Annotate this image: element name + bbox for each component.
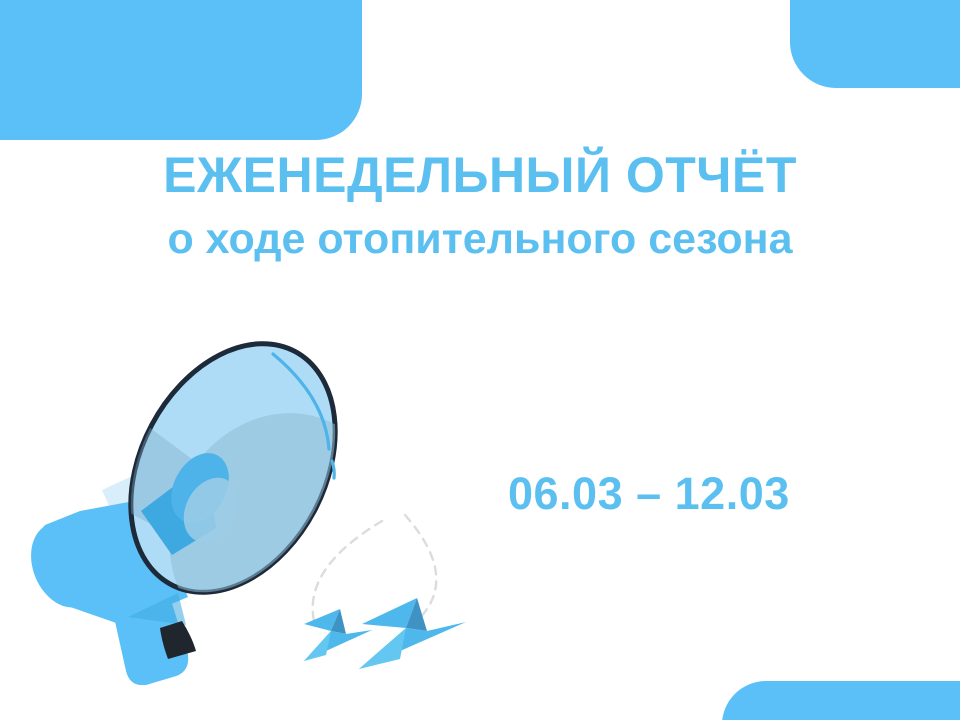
page-title: ЕЖЕНЕДЕЛЬНЫЙ ОТЧЁТ <box>0 150 960 201</box>
megaphone-illustration <box>10 325 490 685</box>
megaphone-icon <box>10 325 490 685</box>
date-range-label: 06.03 – 12.03 <box>508 468 868 520</box>
title-block: ЕЖЕНЕДЕЛЬНЫЙ ОТЧЁТ о ходе отопительного … <box>0 150 960 262</box>
decor-shape-bottom-right <box>722 681 960 720</box>
plane-trail-1 <box>313 521 382 625</box>
decor-shape-top-left <box>0 0 362 140</box>
page-subtitle: о ходе отопительного сезона <box>0 217 960 262</box>
slide-canvas: ЕЖЕНЕДЕЛЬНЫЙ ОТЧЁТ о ходе отопительного … <box>0 0 960 720</box>
paper-plane-large <box>359 598 466 669</box>
decor-shape-top-right <box>790 0 960 88</box>
